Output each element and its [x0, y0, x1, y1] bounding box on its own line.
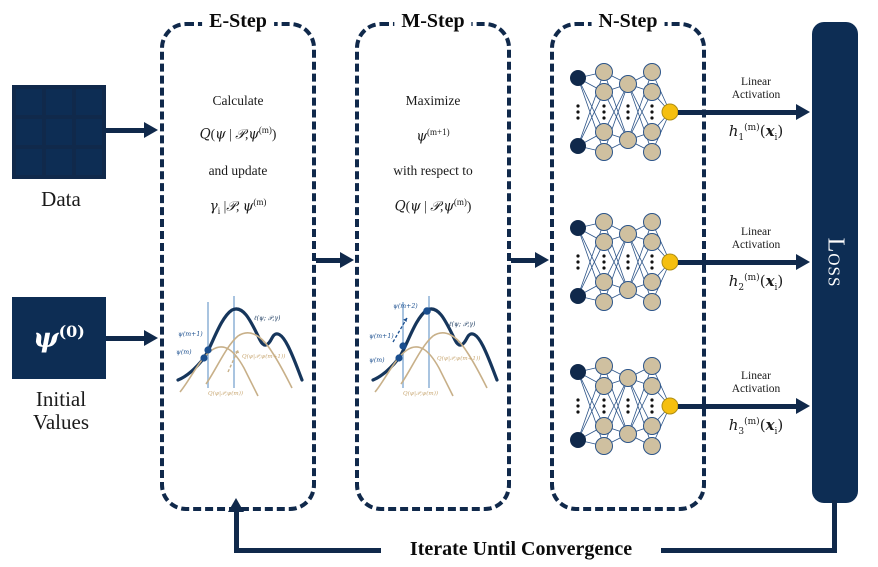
activation-line1: Linear [708, 370, 804, 383]
arrow-network3-to-loss-head [796, 398, 810, 414]
loss-label-wrapper: Loss [812, 22, 858, 503]
arrow-estep-to-mstep [316, 258, 342, 263]
linear-activation-label-2: Linear Activation [708, 226, 804, 252]
e-step-line-2: Q(ψ | 𝒫,ψ(m)) [164, 126, 312, 142]
output-expression-3: h3(m)(xi) [708, 416, 804, 437]
svg-text:Q(ψ|𝒫,ψ(m)): Q(ψ|𝒫,ψ(m)) [208, 390, 243, 397]
output-expression-2: h2(m)(xi) [708, 272, 804, 293]
svg-text:ψ(m): ψ(m) [369, 357, 385, 364]
svg-text:ℓ(ψ; 𝒫,γ): ℓ(ψ; 𝒫,γ) [449, 321, 476, 328]
diagram-canvas: Data ψ(0) Initial Values E-Step Calculat… [0, 0, 878, 567]
arrow-data-to-estep-head [144, 122, 158, 138]
e-step-likelihood-plot: ψ(m) ψ(m+1) ℓ(ψ; 𝒫,γ) Q(ψ|𝒫,ψ(m+1)) Q(ψ|… [172, 288, 304, 400]
arrow-network2-to-loss-head [796, 254, 810, 270]
panel-e-step: E-Step Calculate Q(ψ | 𝒫,ψ(m)) and updat… [160, 22, 316, 511]
data-grid-cell [16, 149, 42, 175]
feedback-arrow-head [228, 498, 244, 512]
initial-values-caption: Initial Values [0, 388, 122, 433]
data-grid-cell [76, 119, 102, 145]
data-grid-cell [46, 149, 72, 175]
panel-m-step-title: M-Step [394, 10, 471, 33]
loss-label: Loss [822, 238, 849, 288]
feedback-line-up [234, 512, 239, 552]
initial-values-box: ψ(0) [12, 297, 106, 379]
svg-text:ℓ(ψ; 𝒫,γ): ℓ(ψ; 𝒫,γ) [254, 315, 281, 322]
feedback-label: Iterate Until Convergence [381, 538, 661, 561]
m-step-line-3: with respect to [359, 164, 507, 179]
neural-network-3 [566, 356, 684, 456]
arrow-network2-to-loss [678, 260, 800, 265]
data-grid-cell [16, 89, 42, 115]
svg-text:ψ(m+1): ψ(m+1) [178, 331, 203, 338]
panel-m-step: M-Step Maximize ψ(m+1) with respect to Q… [355, 22, 511, 511]
data-grid-cell [16, 119, 42, 145]
svg-text:ψ(m+2): ψ(m+2) [393, 303, 418, 310]
svg-text:ψ(m+1): ψ(m+1) [369, 333, 394, 340]
arrow-psi-to-estep [106, 336, 146, 341]
svg-text:Q(ψ|𝒫,ψ(m+1)): Q(ψ|𝒫,ψ(m+1)) [437, 355, 480, 362]
data-grid-cell [76, 89, 102, 115]
arrow-network1-to-loss [678, 110, 800, 115]
activation-line1: Linear [708, 226, 804, 239]
arrow-network1-to-loss-head [796, 104, 810, 120]
arrow-mstep-to-nstep [511, 258, 537, 263]
activation-line1: Linear [708, 76, 804, 89]
feedback-line-down [832, 500, 837, 552]
m-step-line-2: ψ(m+1) [359, 128, 507, 144]
e-step-line-4: γi |𝒫, ψ(m) [164, 198, 312, 217]
activation-line2: Activation [708, 239, 804, 252]
data-grid-cell [46, 89, 72, 115]
m-step-likelihood-plot: ψ(m) ψ(m+1) ψ(m+2) ℓ(ψ; 𝒫,γ) Q(ψ|𝒫,ψ(m+1… [367, 288, 499, 400]
data-grid-cell [76, 149, 102, 175]
activation-line2: Activation [708, 89, 804, 102]
arrow-estep-to-mstep-head [340, 252, 354, 268]
psi-superscript: (0) [59, 322, 85, 341]
e-step-line-1: Calculate [164, 94, 312, 109]
svg-text:Q(ψ|𝒫,ψ(m)): Q(ψ|𝒫,ψ(m)) [403, 390, 438, 397]
output-expression-1: h1(m)(xi) [708, 122, 804, 143]
svg-text:ψ(m): ψ(m) [176, 349, 192, 356]
panel-e-step-title: E-Step [202, 10, 274, 33]
loss-box: Loss [812, 22, 858, 503]
data-caption: Data [0, 188, 122, 211]
panel-n-step-title: N-Step [592, 10, 665, 33]
arrow-psi-to-estep-head [144, 330, 158, 346]
data-grid-cell [46, 119, 72, 145]
activation-line2: Activation [708, 383, 804, 396]
e-step-line-3: and update [164, 164, 312, 179]
linear-activation-label-1: Linear Activation [708, 76, 804, 102]
arrow-network3-to-loss [678, 404, 800, 409]
arrow-data-to-estep [106, 128, 146, 133]
linear-activation-label-3: Linear Activation [708, 370, 804, 396]
arrow-mstep-to-nstep-head [535, 252, 549, 268]
neural-network-2 [566, 212, 684, 312]
initial-values-caption-line2: Values [0, 411, 122, 434]
neural-network-1 [566, 62, 684, 162]
psi-symbol: ψ(0) [33, 322, 85, 354]
initial-values-caption-line1: Initial [0, 388, 122, 411]
data-grid-icon [12, 85, 106, 179]
m-step-line-1: Maximize [359, 94, 507, 109]
m-step-line-4: Q(ψ | 𝒫,ψ(m)) [359, 198, 507, 214]
svg-text:Q(ψ|𝒫,ψ(m+1)): Q(ψ|𝒫,ψ(m+1)) [242, 353, 285, 360]
